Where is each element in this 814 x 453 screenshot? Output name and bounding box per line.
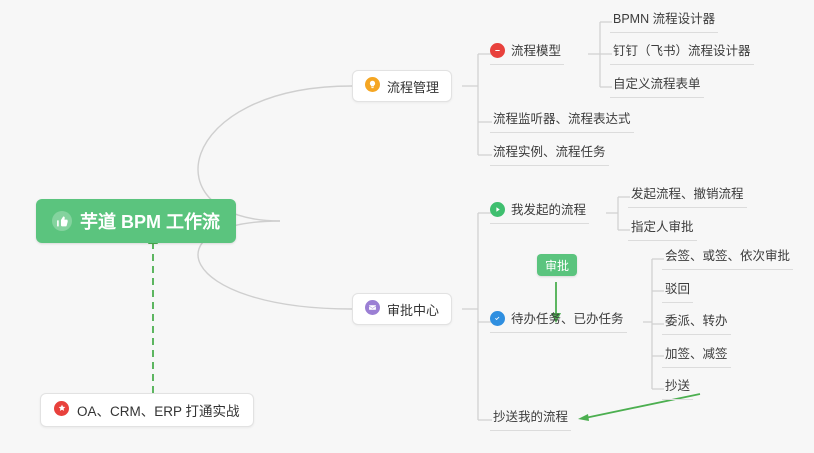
check-circle-icon	[490, 311, 505, 326]
node-label: 流程监听器、流程表达式	[493, 110, 631, 128]
branch-process-management[interactable]: 流程管理	[352, 70, 452, 102]
node-my-initiated[interactable]: 我发起的流程	[490, 202, 589, 224]
node-delegate-transfer[interactable]: 委派、转办	[662, 313, 731, 335]
node-start-cancel[interactable]: 发起流程、撤销流程	[628, 186, 747, 208]
node-label: 待办任务、已办任务	[511, 310, 624, 328]
minus-circle-icon	[490, 43, 505, 58]
node-cc-to-me[interactable]: 抄送我的流程	[490, 409, 571, 431]
node-cc[interactable]: 抄送	[662, 378, 693, 400]
root-label: 芋道 BPM 工作流	[80, 208, 220, 234]
node-listener-expression[interactable]: 流程监听器、流程表达式	[490, 111, 634, 133]
node-add-remove-sign[interactable]: 加签、减签	[662, 346, 731, 368]
node-label: 自定义流程表单	[613, 75, 701, 93]
node-label: 指定人审批	[631, 218, 694, 236]
node-label: 委派、转办	[665, 312, 728, 330]
note-label: OA、CRM、ERP 打通实战	[77, 400, 240, 420]
play-circle-icon	[490, 202, 505, 217]
thumbs-up-icon	[52, 211, 72, 231]
branch-label: 流程管理	[387, 77, 439, 96]
node-label: 抄送我的流程	[493, 408, 568, 426]
branch-label: 审批中心	[387, 300, 439, 319]
node-bpmn-designer[interactable]: BPMN 流程设计器	[610, 11, 718, 33]
node-label: 会签、或签、依次审批	[665, 247, 790, 265]
node-reject[interactable]: 驳回	[662, 281, 693, 303]
branch-approval-center[interactable]: 审批中心	[352, 293, 452, 325]
node-label: 发起流程、撤销流程	[631, 185, 744, 203]
highlight-tag-approval[interactable]: 审批	[537, 254, 577, 276]
mindmap-canvas: 芋道 BPM 工作流 流程管理 流程模型 BPMN 流程设计器 钉钉（飞书）流程…	[0, 0, 814, 453]
node-label: 流程模型	[511, 42, 561, 60]
lightbulb-icon	[365, 77, 380, 92]
node-instance-task[interactable]: 流程实例、流程任务	[490, 144, 609, 166]
node-label: 流程实例、流程任务	[493, 143, 606, 161]
node-label: 驳回	[665, 280, 690, 298]
node-label: 抄送	[665, 377, 690, 395]
node-label: 加签、减签	[665, 345, 728, 363]
node-assign-approver[interactable]: 指定人审批	[628, 219, 697, 241]
node-countersign[interactable]: 会签、或签、依次审批	[662, 248, 793, 270]
note-integration-practice[interactable]: OA、CRM、ERP 打通实战	[40, 393, 254, 427]
mail-icon	[365, 300, 380, 315]
node-todo-done-tasks[interactable]: 待办任务、已办任务	[490, 311, 627, 333]
star-circle-icon	[54, 401, 69, 416]
node-dingtalk-designer[interactable]: 钉钉（飞书）流程设计器	[610, 43, 754, 65]
node-label: 我发起的流程	[511, 201, 586, 219]
node-label: BPMN 流程设计器	[613, 10, 715, 28]
root-node[interactable]: 芋道 BPM 工作流	[36, 199, 236, 243]
tag-label: 审批	[545, 257, 569, 274]
node-custom-form[interactable]: 自定义流程表单	[610, 76, 704, 98]
node-label: 钉钉（飞书）流程设计器	[613, 42, 751, 60]
node-process-model[interactable]: 流程模型	[490, 43, 564, 65]
